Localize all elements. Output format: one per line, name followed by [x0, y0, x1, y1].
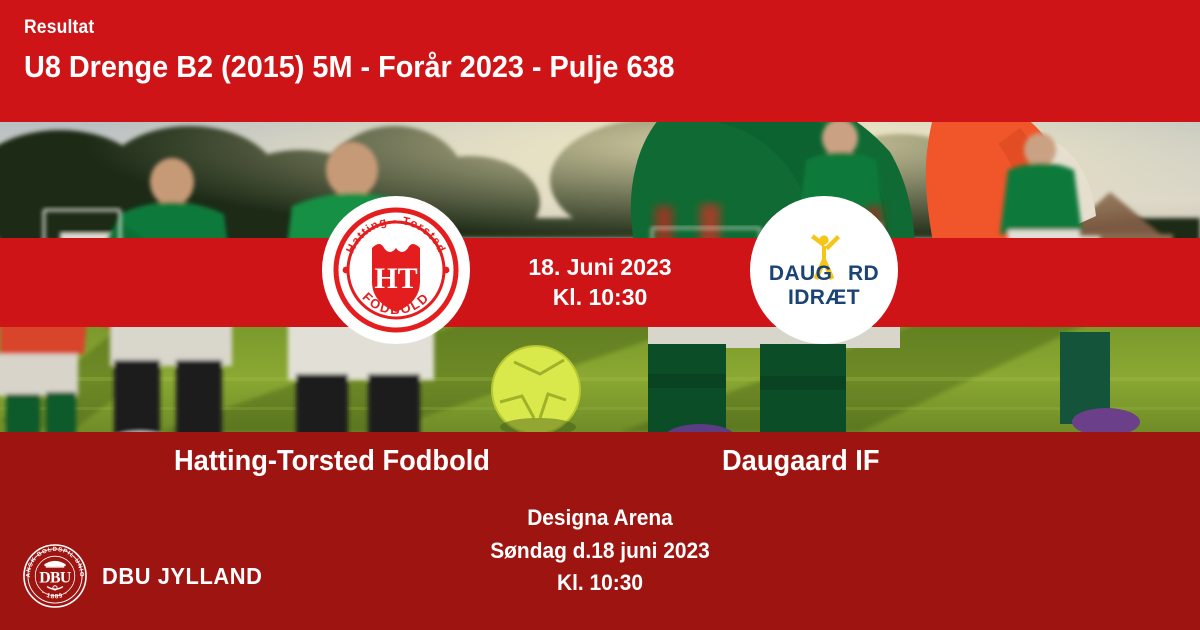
home-team-logo: HT Hatting - Torsted FODBOLD	[322, 196, 470, 344]
dbu-jylland-label: DBU JYLLAND	[102, 563, 262, 590]
home-team-name: Hatting-Torsted Fodbold	[174, 445, 490, 478]
header-kicker: Resultat	[24, 18, 1106, 39]
page-title: U8 Drenge B2 (2015) 5M - Forår 2023 - Pu…	[24, 49, 1118, 85]
poster-header: Resultat U8 Drenge B2 (2015) 5M - Forår …	[0, 0, 1200, 122]
svg-text:DAUGARD: DAUGARD	[769, 262, 879, 285]
venue-name: Designa Arena	[30, 502, 1170, 535]
svg-text:DBU: DBU	[39, 570, 72, 587]
match-result-poster: Resultat U8 Drenge B2 (2015) 5M - Forår …	[0, 0, 1200, 630]
away-team-logo: DAUGARD IDRÆT	[750, 196, 898, 344]
match-time: Kl. 10:30	[553, 283, 648, 312]
svg-text:· 1889 ·: · 1889 ·	[40, 589, 70, 600]
match-date-band-text: 18. Juni 2023 Kl. 10:30	[0, 238, 1200, 327]
svg-text:HT: HT	[374, 262, 417, 295]
team-names-row: Hatting-Torsted Fodbold Daugaard IF	[0, 445, 1200, 489]
away-team-name: Daugaard IF	[722, 445, 880, 478]
svg-text:IDRÆT: IDRÆT	[788, 286, 860, 309]
dbu-jylland-branding: DBU DANSK BOLDSPIL UNION · 1889 · DBU JY…	[22, 543, 271, 609]
dbu-seal-icon: DBU DANSK BOLDSPIL UNION · 1889 ·	[22, 543, 88, 609]
match-date: 18. Juni 2023	[528, 253, 671, 282]
